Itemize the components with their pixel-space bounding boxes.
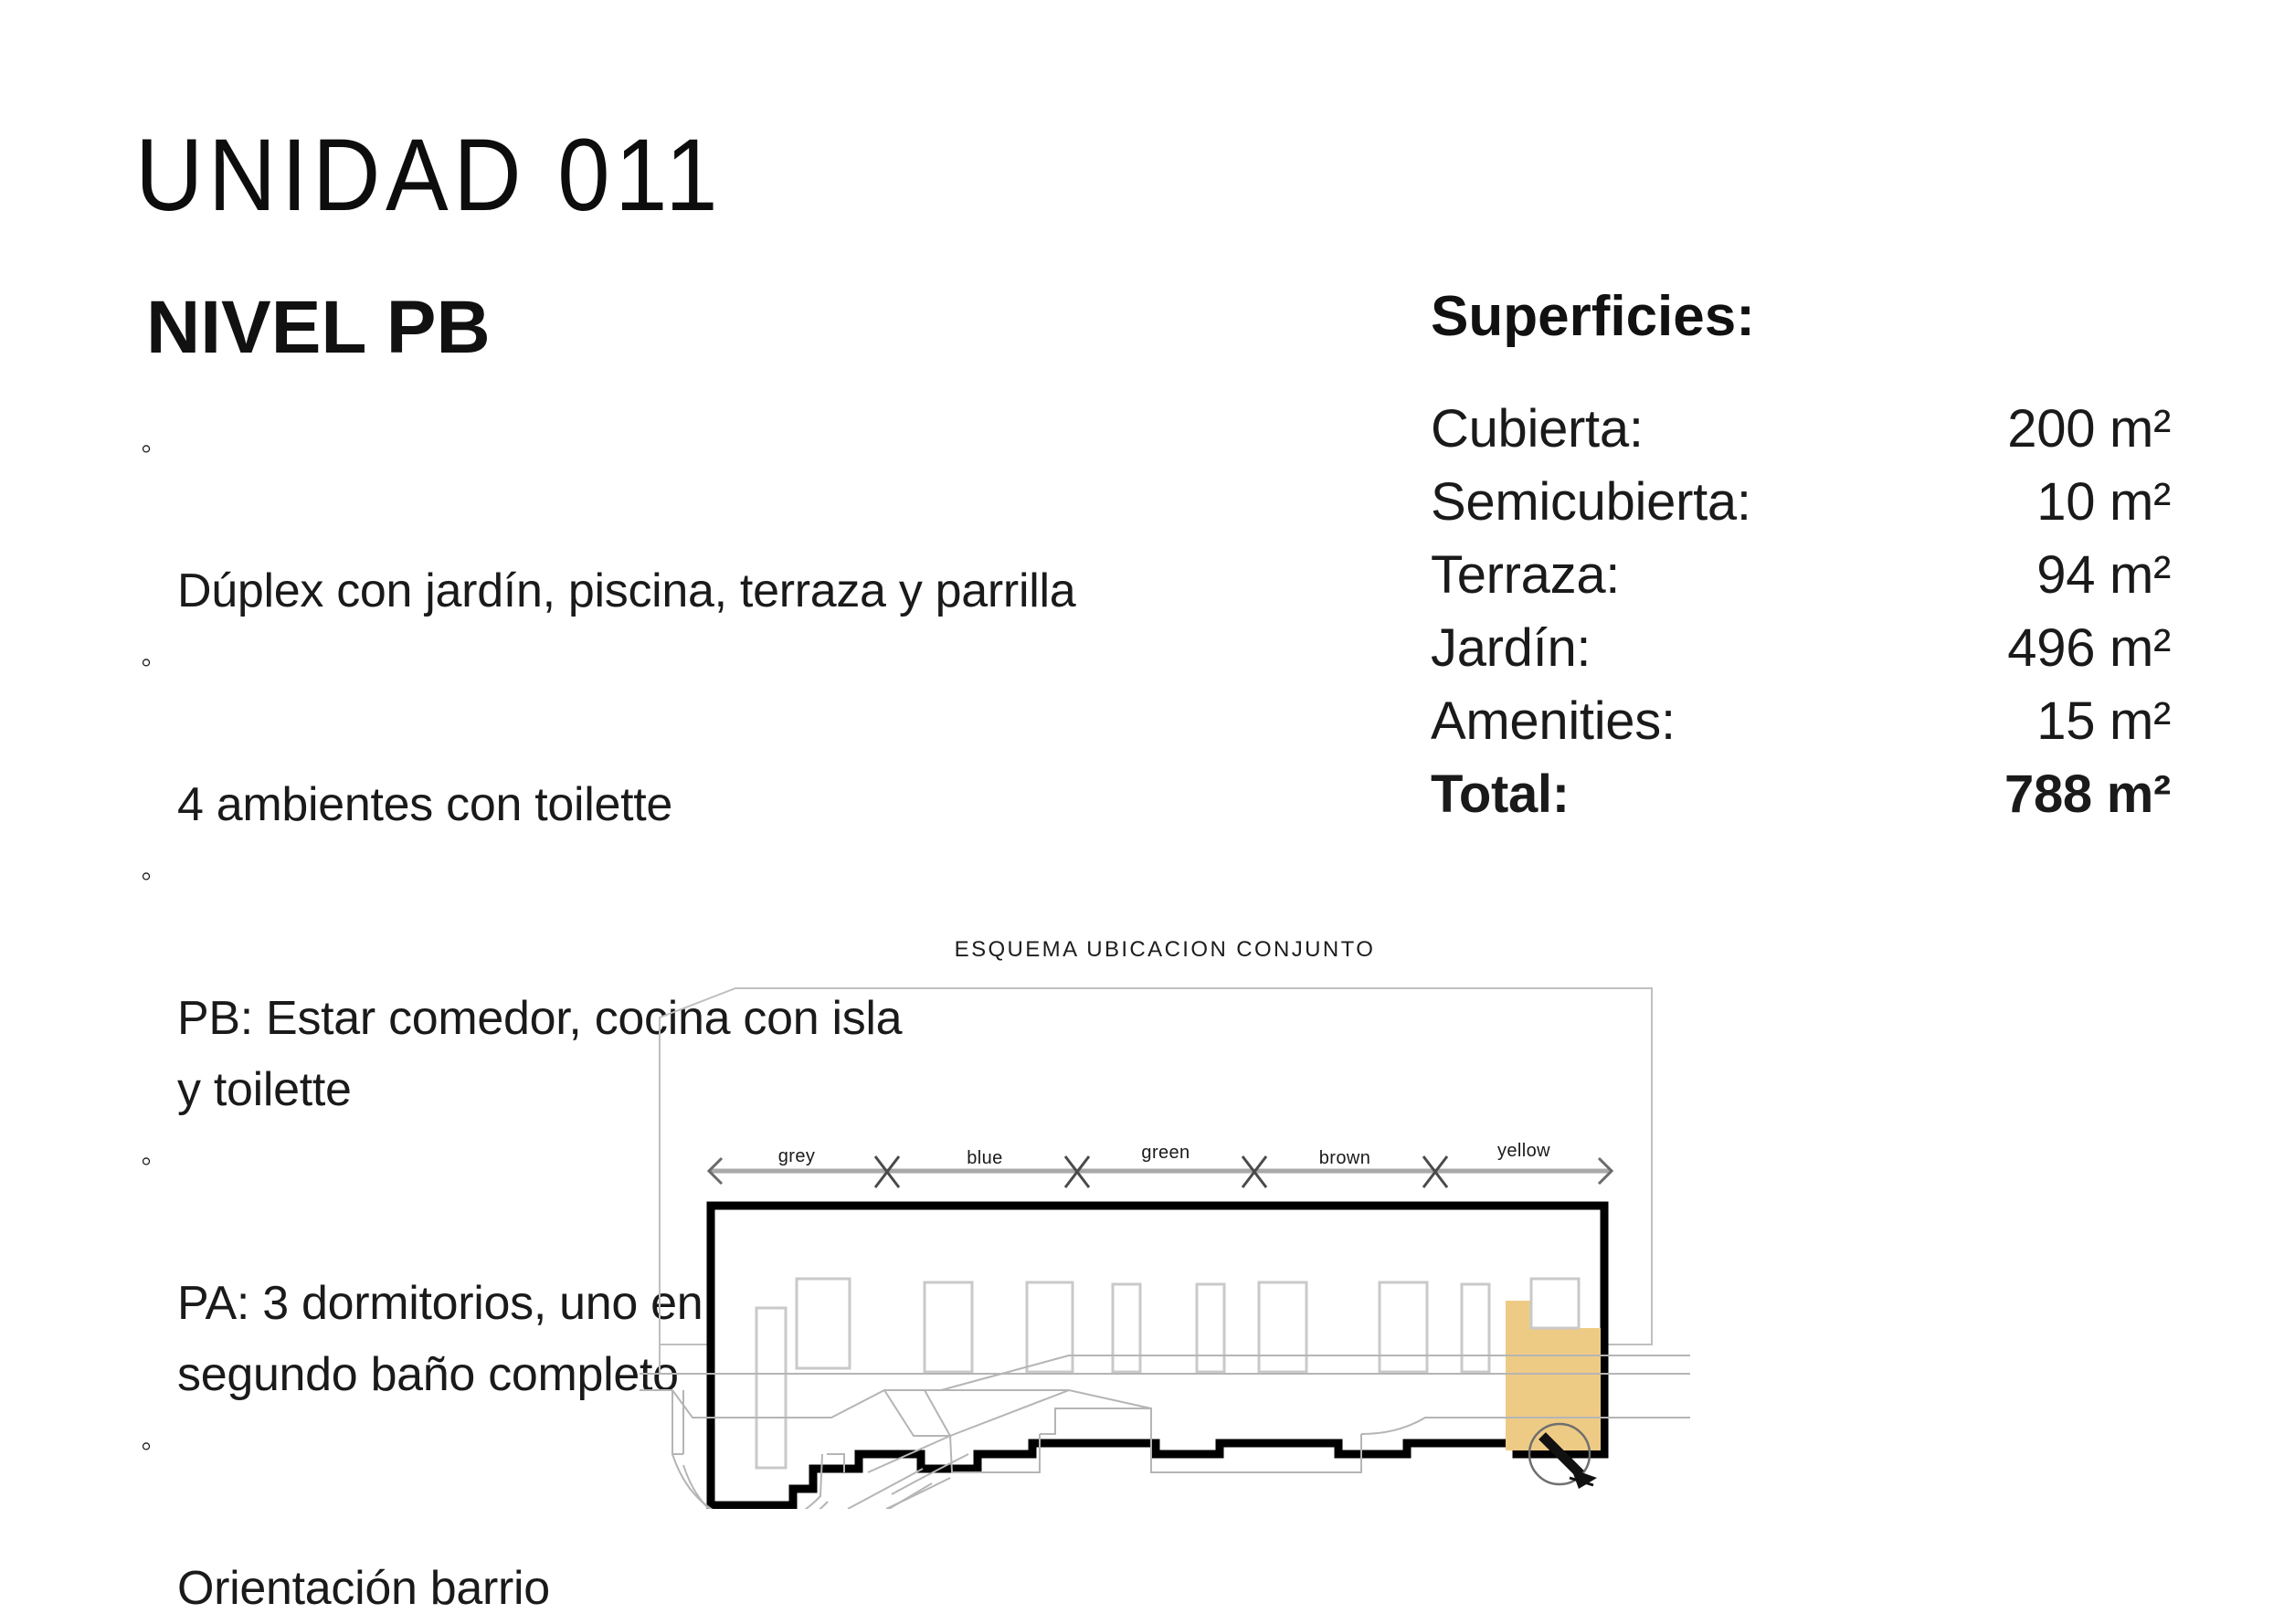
surface-value: 788 m² <box>2004 758 2171 831</box>
unit-footprint <box>1380 1282 1427 1372</box>
surface-value: 15 m² <box>2036 685 2171 758</box>
unit-footprint <box>756 1308 786 1468</box>
dimension-label-grey: grey <box>778 1146 816 1166</box>
surface-label: Cubierta: <box>1431 393 1644 466</box>
table-row: Semicubierta: 10 m² <box>1431 466 2171 539</box>
unit-footprint <box>1462 1284 1489 1372</box>
surface-value: 496 m² <box>2007 612 2171 685</box>
surfaces-heading: Superficies: <box>1431 289 2171 345</box>
bullet-icon: ◦ <box>141 627 152 698</box>
surface-value: 200 m² <box>2007 393 2171 466</box>
list-item: ◦ 4 ambientes con toilette <box>137 627 1380 840</box>
surface-label: Jardín: <box>1431 612 1591 685</box>
feature-text: 4 ambientes con toilette <box>177 778 672 831</box>
dimension-label-yellow: yellow <box>1497 1141 1550 1161</box>
feature-text: Orientación barrio <box>177 1562 550 1615</box>
table-row: Amenities: 15 m² <box>1431 685 2171 758</box>
surface-label: Total: <box>1431 758 1570 831</box>
scheme-drawing: grey blue green brown yellow BARRIO <box>640 961 1690 1509</box>
list-item: ◦ Dúplex con jardín, piscina, terraza y … <box>137 413 1380 627</box>
dimension-label-brown: brown <box>1319 1148 1370 1168</box>
dimension-label-blue: blue <box>967 1148 1002 1168</box>
scheme-caption: ESQUEMA UBICACION CONJUNTO <box>640 937 1690 963</box>
table-row-total: Total: 788 m² <box>1431 758 2171 831</box>
table-row: Cubierta: 200 m² <box>1431 393 2171 466</box>
surface-label: Amenities: <box>1431 685 1676 758</box>
table-row: Terraza: 94 m² <box>1431 539 2171 612</box>
bullet-icon: ◦ <box>141 1410 152 1482</box>
bullet-icon: ◦ <box>141 1125 152 1197</box>
surface-label: Semicubierta: <box>1431 466 1751 539</box>
surface-value: 94 m² <box>2036 539 2171 612</box>
location-scheme-diagram: ESQUEMA UBICACION CONJUNTO grey <box>640 937 1690 1508</box>
bullet-icon: ◦ <box>141 413 152 484</box>
unit-footprint <box>1197 1284 1224 1372</box>
page-title: UNIDAD 011 <box>135 124 723 227</box>
level-heading: NIVEL PB <box>146 290 491 365</box>
dimension-label-green: green <box>1141 1143 1190 1163</box>
surface-value: 10 m² <box>2036 466 2171 539</box>
feature-text: Dúplex con jardín, piscina, terraza y pa… <box>177 564 1075 617</box>
surface-label: Terraza: <box>1431 539 1620 612</box>
unit-footprint <box>1531 1279 1579 1328</box>
surfaces-table: Superficies: Cubierta: 200 m² Semicubier… <box>1431 289 2171 831</box>
unit-footprint <box>925 1282 972 1372</box>
unit-footprint <box>1027 1282 1073 1372</box>
table-row: Jardín: 496 m² <box>1431 612 2171 685</box>
bullet-icon: ◦ <box>141 840 152 912</box>
unit-footprint <box>1113 1284 1140 1372</box>
unit-footprint <box>1259 1282 1306 1372</box>
unit-footprint <box>797 1279 850 1368</box>
